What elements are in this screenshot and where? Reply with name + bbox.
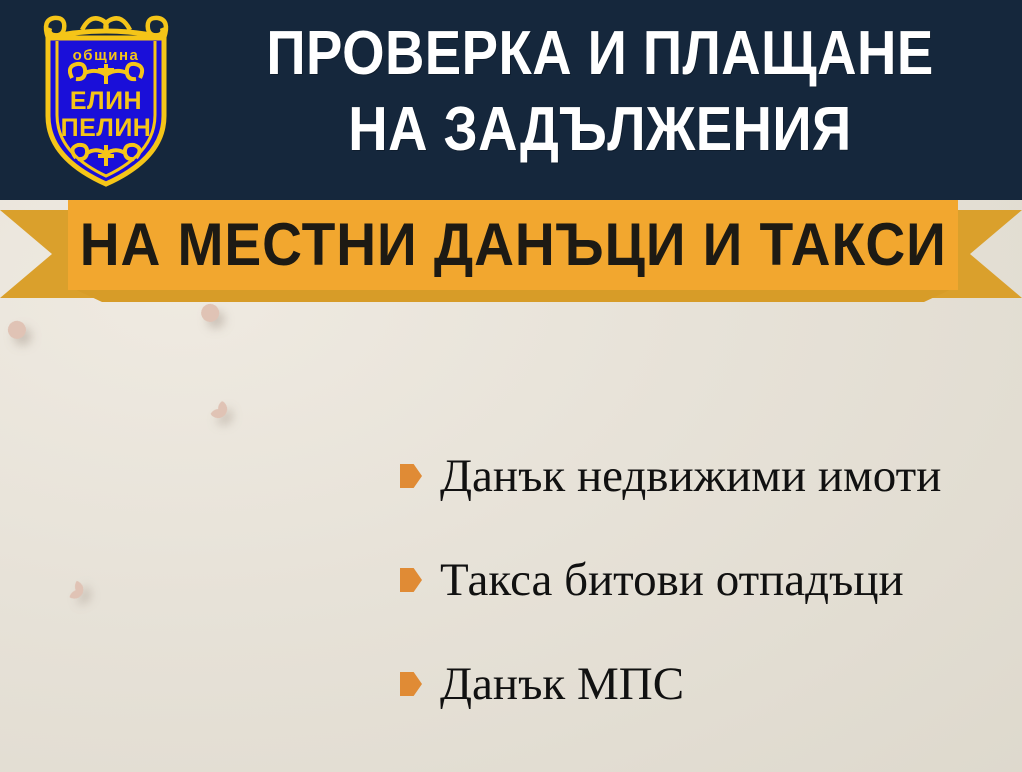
ribbon-band: НА МЕСТНИ ДАНЪЦИ И ТАКСИ bbox=[68, 200, 958, 290]
poster-root: ПРОВЕРКА И ПЛАЩАНЕ НА ЗАДЪЛЖЕНИЯ bbox=[0, 0, 1022, 772]
stamp-house bbox=[7, 303, 237, 533]
crest-logo: община ЕЛИН ПЕЛИН bbox=[20, 8, 192, 194]
list-item-label: Данък недвижими имоти bbox=[440, 450, 941, 502]
ribbon-banner: НА МЕСТНИ ДАНЪЦИ И ТАКСИ bbox=[0, 196, 1022, 306]
crest-curl-left bbox=[82, 18, 107, 30]
crest-volute-right bbox=[148, 18, 166, 38]
tax-type-list: Данък недвижими имоти Такса битови отпад… bbox=[400, 424, 1015, 736]
list-item-label: Такса битови отпадъци bbox=[440, 554, 904, 606]
list-item-label: Данък МПС bbox=[440, 658, 684, 710]
arrow-bullet-icon bbox=[400, 568, 422, 592]
list-item[interactable]: Данък МПС bbox=[400, 632, 1015, 736]
crest-curl-right bbox=[106, 18, 131, 30]
list-item[interactable]: Данък недвижими имоти bbox=[400, 424, 1015, 528]
list-item[interactable]: Такса битови отпадъци bbox=[400, 528, 1015, 632]
stamp-border bbox=[7, 303, 237, 533]
crest-name-line1: ЕЛИН bbox=[70, 87, 142, 115]
ribbon-label: НА МЕСТНИ ДАНЪЦИ И ТАКСИ bbox=[79, 215, 946, 275]
crest-volute-left bbox=[46, 18, 64, 38]
arrow-bullet-icon bbox=[400, 464, 422, 488]
crest-municipality-word: община bbox=[73, 47, 140, 64]
arrow-bullet-icon bbox=[400, 672, 422, 696]
crest-name-line2: ПЕЛИН bbox=[61, 114, 152, 142]
page-title: ПРОВЕРКА И ПЛАЩАНЕ НА ЗАДЪЛЖЕНИЯ bbox=[239, 16, 961, 168]
